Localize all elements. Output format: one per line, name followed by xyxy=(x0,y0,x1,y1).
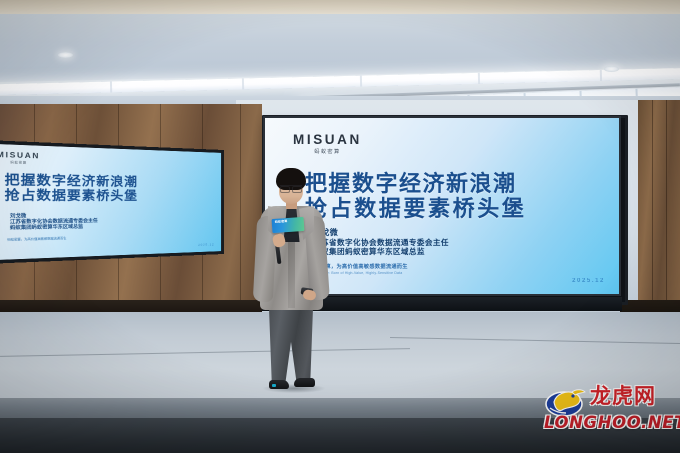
side-slide-title: 把握数字经济新浪潮 抢占数据要素桥头堡 xyxy=(5,173,138,204)
presenter-trousers xyxy=(267,306,315,384)
presenter-shoe-left xyxy=(269,380,289,389)
glasses-icon xyxy=(280,185,302,191)
watermark: 龙虎网 LONGHOO.NET xyxy=(540,382,670,444)
logo-wordmark: MISUAN xyxy=(293,132,362,147)
side-display-screen: MISUAN 蚂蚁密算 把握数字经济新浪潮 抢占数据要素桥头堡 刘戈微 江苏省数… xyxy=(0,143,221,260)
slide-title: 把握数字经济新浪潮 抢占数据要素桥头堡 xyxy=(305,172,526,222)
ceiling-downlight xyxy=(58,52,73,58)
conference-photo: MISUAN 蚂蚁密算 把握数字经济新浪潮 抢占数据要素桥头堡 刘戈微 江苏省数… xyxy=(0,0,680,453)
presenter: 蚂蚁密算 xyxy=(245,168,337,403)
watermark-cn-text: 龙虎网 xyxy=(590,384,656,408)
slide-logo: MISUAN 蚂蚁密算 xyxy=(293,132,362,155)
side-slide-logo: MISUAN 蚂蚁密算 xyxy=(0,151,40,165)
watermark-en-text: LONGHOO.NET xyxy=(544,413,680,432)
slide-date: 2025.12 xyxy=(572,278,605,284)
logo-subtitle: 蚂蚁密算 xyxy=(293,148,362,155)
slide-title-line-1: 把握数字经济新浪潮 xyxy=(305,172,526,197)
side-title-line-2: 抢占数据要素桥头堡 xyxy=(5,188,138,203)
right-wood-wall xyxy=(638,100,680,325)
side-display-bezel: MISUAN 蚂蚁密算 把握数字经济新浪潮 抢占数据要素桥头堡 刘戈微 江苏省数… xyxy=(0,140,224,265)
slide-title-line-2: 抢占数据要素桥头堡 xyxy=(305,197,526,222)
side-slide-tagline: 蚂蚁密算，为高价值高敏感数据流通而生 xyxy=(7,237,66,242)
microphone-flag: 蚂蚁密算 xyxy=(272,217,305,233)
ceiling-downlight xyxy=(604,66,619,72)
side-slide-date: 2025.12 xyxy=(198,242,214,247)
side-speaker-info: 刘戈微 江苏省数字化协会数据流通专委会主任 蚂蚁集团蚂蚁密算华东区域总监 xyxy=(10,212,98,231)
microphone-flag-label: 蚂蚁密算 xyxy=(272,217,304,225)
presenter-shoe-right xyxy=(294,378,315,387)
side-speaker-role-2: 蚂蚁集团蚂蚁密算华东区域总监 xyxy=(10,223,98,230)
